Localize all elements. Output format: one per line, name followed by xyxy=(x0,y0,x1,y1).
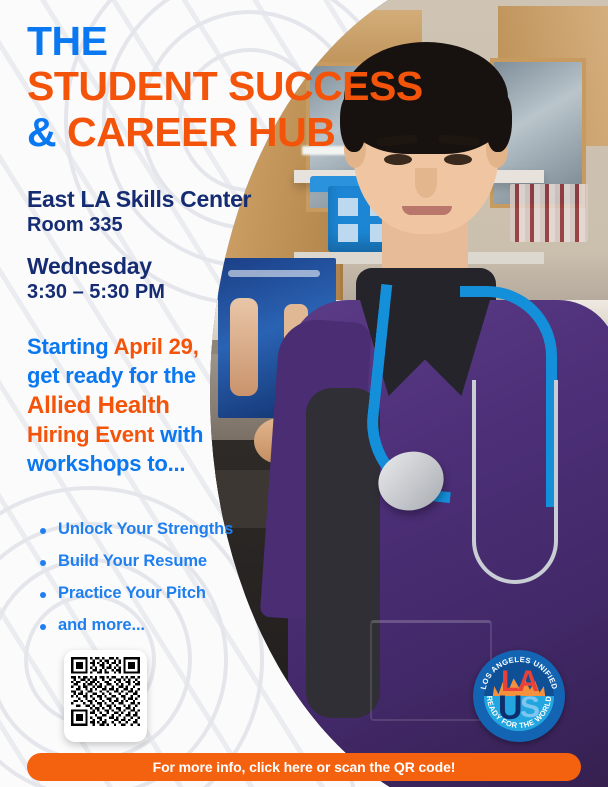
title-line-the: THE xyxy=(27,22,367,61)
qr-code-image xyxy=(71,657,140,726)
schedule-block: Wednesday 3:30 – 5:30 PM xyxy=(27,253,165,304)
list-item: Practice Your Pitch xyxy=(40,584,310,603)
lausd-logo-top-text: LOS ANGELES UNIFIED xyxy=(479,655,560,691)
content-column: THE STUDENT SUCCESS & CAREER HUB East LA… xyxy=(0,0,330,787)
person-mouth xyxy=(402,206,452,215)
title-career-hub-text: CAREER HUB xyxy=(56,109,335,155)
venue-block: East LA Skills Center Room 335 xyxy=(27,186,251,237)
pitch-with: with xyxy=(154,422,203,447)
venue-room: Room 335 xyxy=(27,214,251,237)
title-line-student-success: STUDENT SUCCESS xyxy=(27,67,367,106)
page-title: THE STUDENT SUCCESS & CAREER HUB xyxy=(27,22,367,152)
schedule-time: 3:30 – 5:30 PM xyxy=(27,281,165,304)
list-item: Build Your Resume xyxy=(40,552,310,571)
list-item: and more... xyxy=(40,616,310,635)
lausd-logo: LA U S LOS ANGELES UNIFIED READY FOR THE… xyxy=(473,650,565,742)
cta-button[interactable]: For more info, click here or scan the QR… xyxy=(27,753,581,781)
pitch-line5: workshops to... xyxy=(27,451,185,476)
flyer-canvas: LA U S LOS ANGELES UNIFIED READY FOR THE… xyxy=(0,0,608,787)
pitch-paragraph: Starting April 29, get ready for the All… xyxy=(27,333,275,479)
list-item: Unlock Your Strengths xyxy=(40,520,310,539)
title-line-career-hub: & CAREER HUB xyxy=(27,113,367,152)
title-ampersand: & xyxy=(27,109,56,155)
person-eye-left xyxy=(384,154,412,165)
venue-name: East LA Skills Center xyxy=(27,186,251,213)
lausd-logo-ring-text: LOS ANGELES UNIFIED READY FOR THE WORLD xyxy=(473,650,565,742)
schedule-day: Wednesday xyxy=(27,253,165,280)
person-eye-right xyxy=(444,154,472,165)
test-tube-rack xyxy=(510,184,588,242)
pitch-event: Hiring Event xyxy=(27,422,154,447)
person-nose xyxy=(415,168,437,198)
pitch-headline: Allied Health xyxy=(27,392,170,419)
pitch-starting: Starting xyxy=(27,334,114,359)
lausd-logo-bottom-text: READY FOR THE WORLD xyxy=(485,695,553,730)
pitch-line2: get ready for the xyxy=(27,363,196,388)
workshop-list: Unlock Your Strengths Build Your Resume … xyxy=(40,520,310,648)
pitch-date: April 29, xyxy=(114,334,199,359)
stethoscope-lower-tube xyxy=(472,380,558,584)
qr-code[interactable] xyxy=(64,650,147,742)
